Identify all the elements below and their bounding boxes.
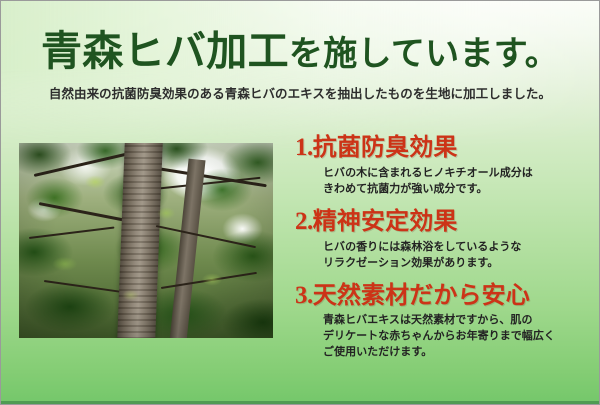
benefit-item-1: 1.抗菌防臭効果 ヒバの木に含まれるヒノキチオール成分は きわめて抗菌力が強い成… xyxy=(295,134,595,198)
benefit-body-line: リラクゼーション効果があります。 xyxy=(323,256,595,272)
benefit-body-3: 青森ヒバエキスは天然素材ですから、肌の デリケートな赤ちゃんからお年寄りまで幅広… xyxy=(323,313,595,361)
benefit-number-3: 3. xyxy=(295,282,313,309)
photo-leaf-highlights xyxy=(19,143,273,338)
photo-branch xyxy=(34,151,134,177)
photo-canopy-layer xyxy=(19,143,273,338)
benefit-number-1: 1. xyxy=(295,134,313,161)
title-tail-part: を施しています。 xyxy=(289,36,559,73)
page-title: 青森ヒバ加工を施しています。 xyxy=(1,1,599,72)
photo-secondary-trunk xyxy=(169,158,205,338)
benefit-body-line: ご使用いただけます。 xyxy=(323,345,595,361)
benefit-heading-3: 3.天然素材だから安心 xyxy=(295,282,595,310)
benefit-body-line: きわめて抗菌力が強い成分です。 xyxy=(323,182,595,198)
photo-branch xyxy=(154,177,260,190)
photo-branch xyxy=(151,166,267,187)
photo-main-trunk xyxy=(117,143,163,338)
benefit-body-line: デリケートな赤ちゃんからお年寄りまで幅広く xyxy=(323,329,595,345)
benefit-heading-1: 1.抗菌防臭効果 xyxy=(295,134,595,162)
benefit-body-1: ヒバの木に含まれるヒノキチオール成分は きわめて抗菌力が強い成分です。 xyxy=(323,166,595,198)
photo-branch xyxy=(156,225,256,248)
photo-trunk-bark-texture xyxy=(117,143,163,338)
benefit-body-line: ヒバの木に含まれるヒノキチオール成分は xyxy=(323,166,595,182)
benefit-body-2: ヒバの香りには森林浴をしているような リラクゼーション効果があります。 xyxy=(323,240,595,272)
benefit-heading-2: 2.精神安定効果 xyxy=(295,208,595,236)
benefit-body-line: 青森ヒバエキスは天然素材ですから、肌の xyxy=(323,313,595,329)
benefit-item-3: 3.天然素材だから安心 青森ヒバエキスは天然素材ですから、肌の デリケートな赤ち… xyxy=(295,282,595,362)
photo-branch xyxy=(29,226,115,239)
benefit-title-2: 精神安定効果 xyxy=(313,209,458,235)
photo-sky-layer xyxy=(19,143,273,338)
photo-branch xyxy=(44,280,120,293)
benefit-body-line: ヒバの香りには森林浴をしているような xyxy=(323,240,595,256)
photo-branch xyxy=(39,202,124,221)
hiba-forest-photo xyxy=(19,143,273,338)
benefit-title-3: 天然素材だから安心 xyxy=(313,283,530,309)
banner-header: 青森ヒバ加工を施しています。 自然由来の抗菌防臭効果のある青森ヒバのエキスを抽出… xyxy=(1,1,599,102)
hiba-promo-banner: 青森ヒバ加工を施しています。 自然由来の抗菌防臭効果のある青森ヒバのエキスを抽出… xyxy=(0,0,600,405)
photo-branch xyxy=(161,272,257,289)
bottom-edge-stripe xyxy=(1,401,599,404)
benefit-number-2: 2. xyxy=(295,208,313,235)
page-subtitle: 自然由来の抗菌防臭効果のある青森ヒバのエキスを抽出したものを生地に加工しました。 xyxy=(1,72,599,102)
benefit-item-2: 2.精神安定効果 ヒバの香りには森林浴をしているような リラクゼーション効果があ… xyxy=(295,208,595,272)
photo-vignette xyxy=(19,143,273,338)
benefits-list: 1.抗菌防臭効果 ヒバの木に含まれるヒノキチオール成分は きわめて抗菌力が強い成… xyxy=(295,134,595,371)
benefit-title-1: 抗菌防臭効果 xyxy=(313,135,458,161)
title-strong-part: 青森ヒバ加工 xyxy=(41,28,289,74)
